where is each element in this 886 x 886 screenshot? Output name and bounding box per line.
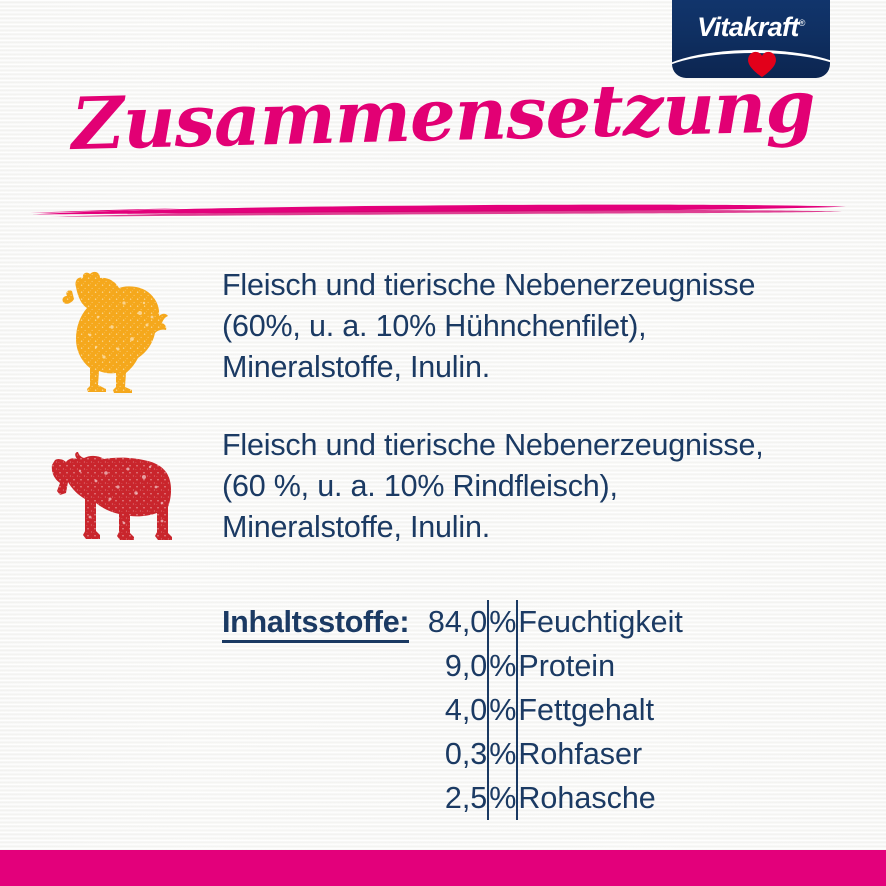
brush-stroke-divider (30, 198, 850, 224)
table-row: Inhaltsstoffe: 84,0 % Feuchtigkeit (222, 600, 683, 644)
unit-cell: % (488, 688, 517, 732)
chicken-icon (52, 269, 170, 397)
table-row: 4,0 % Fettgehalt (222, 688, 683, 732)
page-title: Zusammensetzung (0, 61, 886, 168)
analysis-table: Inhaltsstoffe: 84,0 % Feuchtigkeit 9,0 %… (222, 600, 683, 820)
analysis-label-cell: Inhaltsstoffe: (222, 600, 409, 644)
analysis-label-spacer (222, 644, 409, 688)
nutrient-name-cell: Fettgehalt (517, 688, 682, 732)
chicken-text-line-2: (60%, u. a. 10% Hühnchenfilet), (222, 306, 886, 347)
value-cell: 2,5 (409, 776, 488, 820)
value-cell: 9,0 (409, 644, 488, 688)
chicken-text-line-3: Mineralstoffe, Inulin. (222, 347, 886, 388)
nutrient-name-cell: Protein (517, 644, 682, 688)
chicken-text-line-1: Fleisch und tierische Nebenerzeugnisse (222, 265, 886, 306)
nutrient-name-cell: Rohfaser (517, 732, 682, 776)
footer-bar (0, 850, 886, 886)
registered-trademark-icon: ® (799, 18, 805, 28)
chicken-icon-cell (0, 265, 222, 397)
analysis-label: Inhaltsstoffe: (222, 605, 409, 643)
unit-cell: % (488, 732, 517, 776)
beef-text-line-2: (60 %, u. a. 10% Rindfleisch), (222, 466, 886, 507)
unit-cell: % (488, 644, 517, 688)
unit-cell: % (488, 776, 517, 820)
nutrient-name-cell: Rohasche (517, 776, 682, 820)
beef-ingredient-text: Fleisch und tierische Nebenerzeugnisse, … (222, 425, 886, 548)
composition-infographic: Vitakraft® Zusammensetzung (0, 0, 886, 886)
value-cell: 4,0 (409, 688, 488, 732)
logo-brand-text: Vitakraft (697, 12, 799, 42)
cow-icon-cell (0, 425, 222, 553)
table-row: 0,3 % Rohfaser (222, 732, 683, 776)
unit-cell: % (488, 600, 517, 644)
table-row: 9,0 % Protein (222, 644, 683, 688)
nutrient-name-cell: Feuchtigkeit (517, 600, 682, 644)
beef-text-line-3: Mineralstoffe, Inulin. (222, 507, 886, 548)
beef-text-line-1: Fleisch und tierische Nebenerzeugnisse, (222, 425, 886, 466)
cow-icon (44, 443, 178, 553)
analysis-label-spacer (222, 776, 409, 820)
analysis-label-spacer (222, 688, 409, 732)
analytical-constituents: Inhaltsstoffe: 84,0 % Feuchtigkeit 9,0 %… (222, 600, 683, 820)
value-cell: 0,3 (409, 732, 488, 776)
analysis-label-spacer (222, 732, 409, 776)
table-row: 2,5 % Rohasche (222, 776, 683, 820)
chicken-ingredient-text: Fleisch und tierische Nebenerzeugnisse (… (222, 265, 886, 388)
ingredient-block-chicken: Fleisch und tierische Nebenerzeugnisse (… (0, 265, 886, 397)
logo-wordmark: Vitakraft® (672, 12, 830, 43)
ingredient-block-beef: Fleisch und tierische Nebenerzeugnisse, … (0, 425, 886, 553)
value-cell: 84,0 (409, 600, 488, 644)
